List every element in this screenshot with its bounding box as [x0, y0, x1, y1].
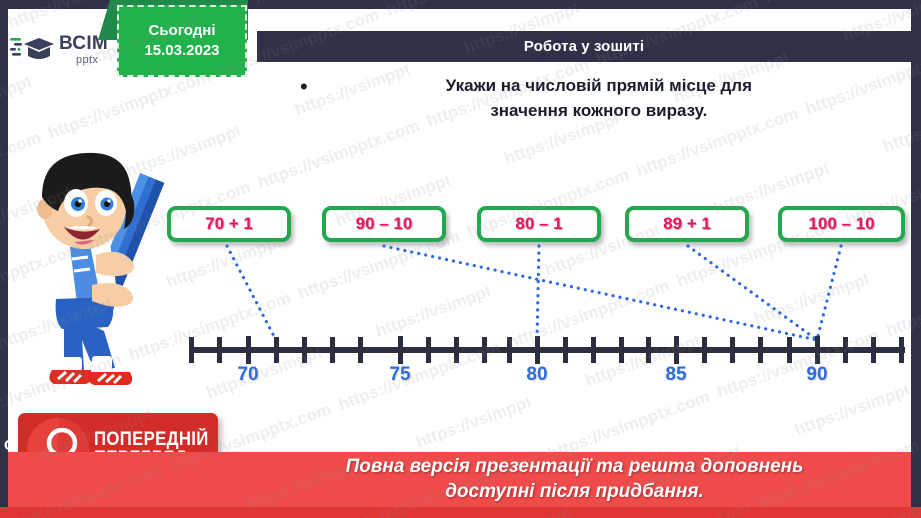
expression-label: 89 + 1 [663, 214, 711, 234]
number-line-tick [246, 336, 251, 364]
expression-card[interactable]: 89 + 1 [625, 206, 749, 242]
date-badge-label: Сьогодні [149, 22, 216, 41]
bottom-banner-line-2: доступні після придбання. [346, 480, 804, 505]
expression-card[interactable]: 100 – 10 [778, 206, 905, 242]
expression-label: 100 – 10 [808, 214, 874, 234]
number-line-tick [619, 337, 624, 363]
instruction-line-2: значення кожного виразу. [318, 99, 880, 124]
number-line-tick [899, 337, 904, 363]
number-line-label: 75 [389, 364, 410, 386]
number-line-tick [871, 337, 876, 363]
number-line-tick [674, 336, 679, 364]
number-line-tick [454, 337, 459, 363]
number-line-tick [646, 337, 651, 363]
number-line-label: 70 [237, 364, 258, 386]
graduation-cap-icon [10, 33, 54, 67]
instruction-block: • Укажи на числовій прямій місце для зна… [300, 74, 880, 123]
bottom-banner: Повна версія презентації та решта доповн… [8, 452, 911, 507]
number-line-tick [189, 337, 194, 363]
date-badge: Сьогодні 15.03.2023 [117, 5, 247, 77]
number-line-tick [302, 337, 307, 363]
expression-label: 90 – 10 [356, 214, 413, 234]
number-line-tick [358, 337, 363, 363]
number-line-tick [398, 336, 403, 364]
bottom-strip [0, 507, 921, 518]
number-line-tick [217, 337, 222, 363]
expression-card[interactable]: 90 – 10 [322, 206, 446, 242]
number-line-tick [787, 337, 792, 363]
page-title: Робота у зошиті [524, 38, 644, 55]
number-line-tick [426, 337, 431, 363]
number-line-tick [507, 337, 512, 363]
number-line-tick [482, 337, 487, 363]
brand-logo-sub: pptx [76, 55, 108, 66]
bottom-banner-line-1: Повна версія презентації та решта доповн… [346, 455, 804, 480]
preview-badge-line-1: ПОПЕРЕДНІЙ [94, 430, 209, 449]
expression-card[interactable]: 70 + 1 [167, 206, 291, 242]
number-line-tick [730, 337, 735, 363]
number-line-tick [330, 337, 335, 363]
number-line-axis [191, 347, 905, 353]
number-line-label: 90 [806, 364, 827, 386]
number-line-tick [535, 336, 540, 364]
number-line-tick [563, 337, 568, 363]
expression-card[interactable]: 80 – 1 [477, 206, 601, 242]
number-line-label: 85 [665, 364, 686, 386]
slide-root: ВСІМ pptx Сьогодні 15.03.2023 Робота у з… [0, 0, 921, 518]
bullet-icon: • [300, 74, 308, 123]
number-line-tick [758, 337, 763, 363]
number-line-tick [274, 337, 279, 363]
number-line-tick [843, 337, 848, 363]
boy-with-pencil-illustration [12, 135, 172, 400]
instruction-line-1: Укажи на числовій прямій місце для [318, 74, 880, 99]
instruction-text: Укажи на числовій прямій місце для значе… [318, 74, 880, 123]
number-line-tick [702, 337, 707, 363]
bottom-banner-text: Повна версія презентації та решта доповн… [116, 455, 804, 504]
expression-label: 70 + 1 [205, 214, 253, 234]
date-badge-date: 15.03.2023 [144, 42, 219, 61]
number-line-label: 80 [526, 364, 547, 386]
header-bar: Робота у зошиті [257, 31, 911, 62]
number-line-tick [591, 337, 596, 363]
expression-label: 80 – 1 [515, 214, 562, 234]
number-line-tick [815, 336, 820, 364]
